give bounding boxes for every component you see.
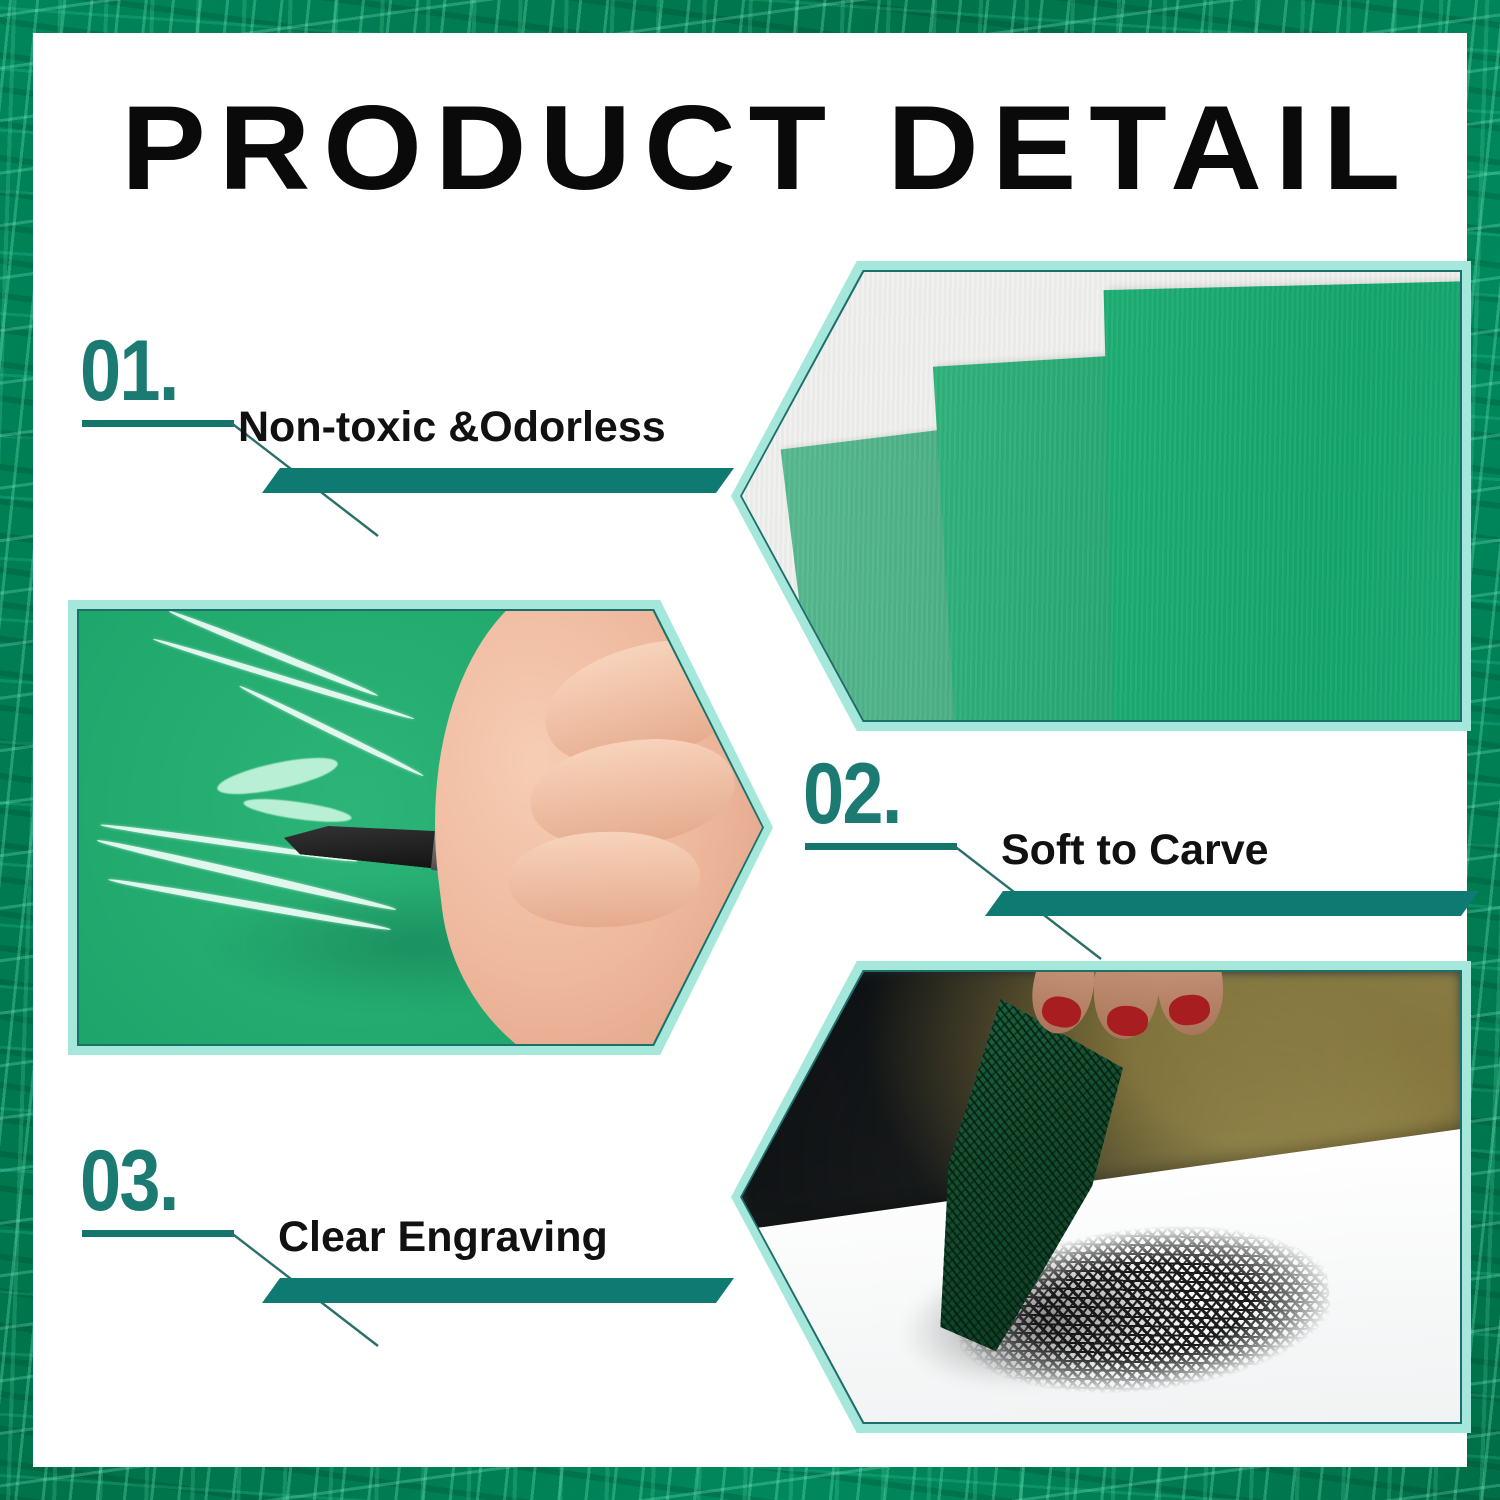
step-number-underline-01 xyxy=(82,420,234,427)
content-card: PRODUCT DETAIL 01. Non-toxic &Odorless xyxy=(33,33,1467,1467)
step-number-02: 02. xyxy=(803,751,901,837)
step-caption-02: Soft to Carve xyxy=(1001,829,1269,872)
photo-rubber-sheets xyxy=(742,272,1460,720)
hand-fingers-group xyxy=(1029,972,1244,1053)
step-caption-03: Clear Engraving xyxy=(278,1216,608,1259)
gouge-mark-1 xyxy=(214,750,340,801)
infographic-canvas: PRODUCT DETAIL 01. Non-toxic &Odorless xyxy=(0,0,1500,1500)
step-number-03: 03. xyxy=(80,1138,178,1224)
product-photo-panel-03 xyxy=(731,961,1471,1433)
photo-lino-print xyxy=(742,972,1460,1422)
step-caption-01: Non-toxic &Odorless xyxy=(238,406,666,449)
step-accent-bar-03 xyxy=(262,1278,734,1303)
step-number-underline-02 xyxy=(805,843,957,850)
page-title: PRODUCT DETAIL xyxy=(121,85,1413,211)
photo-grain-overlay-01 xyxy=(742,272,1460,720)
step-number-underline-03 xyxy=(82,1230,234,1237)
step-accent-bar-02 xyxy=(985,891,1479,916)
gouge-mark-2 xyxy=(242,794,353,826)
product-photo-panel-01 xyxy=(731,261,1471,731)
product-photo-panel-02 xyxy=(68,600,773,1055)
photo-carving-knife xyxy=(79,611,762,1044)
step-number-01: 01. xyxy=(80,328,178,414)
step-accent-bar-01 xyxy=(262,468,734,493)
